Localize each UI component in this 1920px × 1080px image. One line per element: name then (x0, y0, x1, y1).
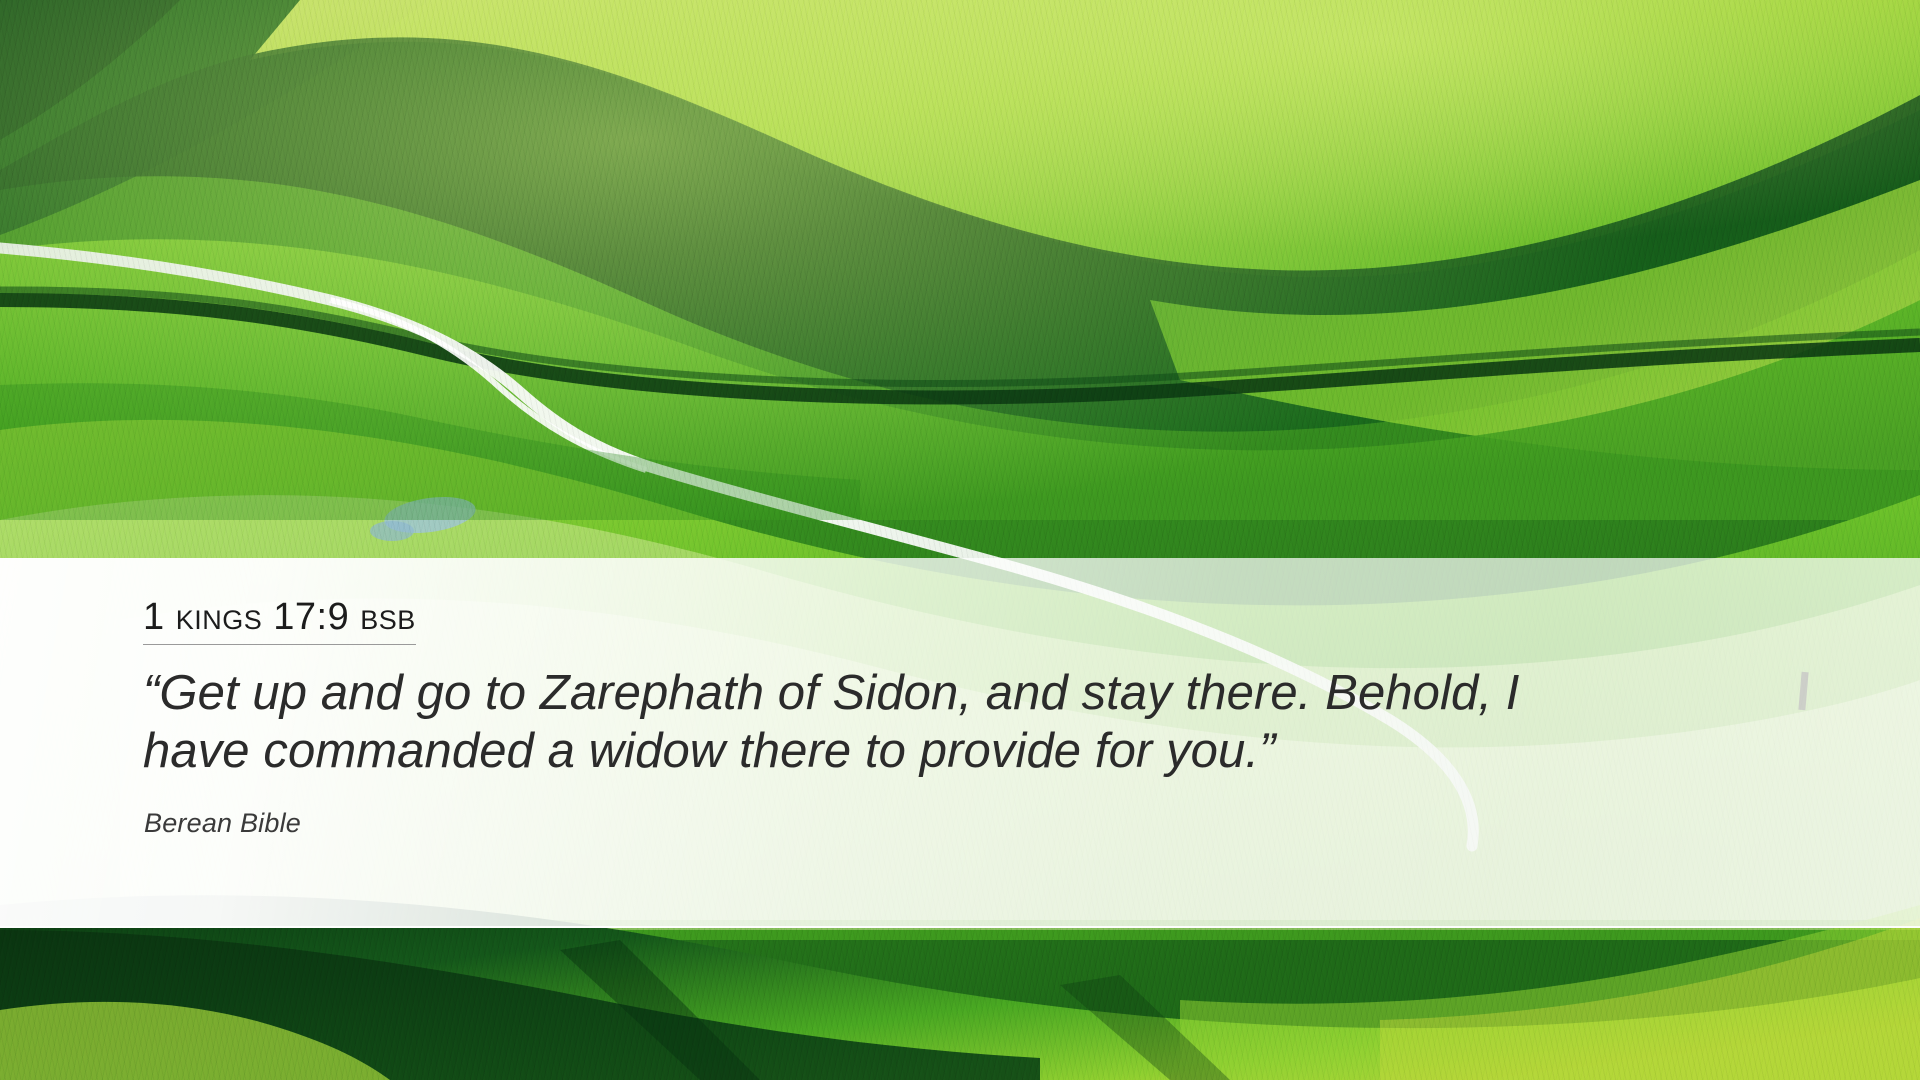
bible-version-attribution: Berean Bible (144, 808, 301, 839)
scripture-reference-wrapper: 1 Kings 17:9 BSB (143, 598, 416, 645)
quote-overlay-panel: 1 Kings 17:9 BSB “Get up and go to Zarep… (0, 558, 1920, 928)
scripture-wallpaper: 1 Kings 17:9 BSB “Get up and go to Zarep… (0, 0, 1920, 1080)
scripture-quote-text: “Get up and go to Zarephath of Sidon, an… (143, 664, 1543, 780)
scripture-reference: 1 Kings 17:9 BSB (143, 598, 416, 645)
quote-overlay-content: 1 Kings 17:9 BSB “Get up and go to Zarep… (143, 558, 1843, 926)
